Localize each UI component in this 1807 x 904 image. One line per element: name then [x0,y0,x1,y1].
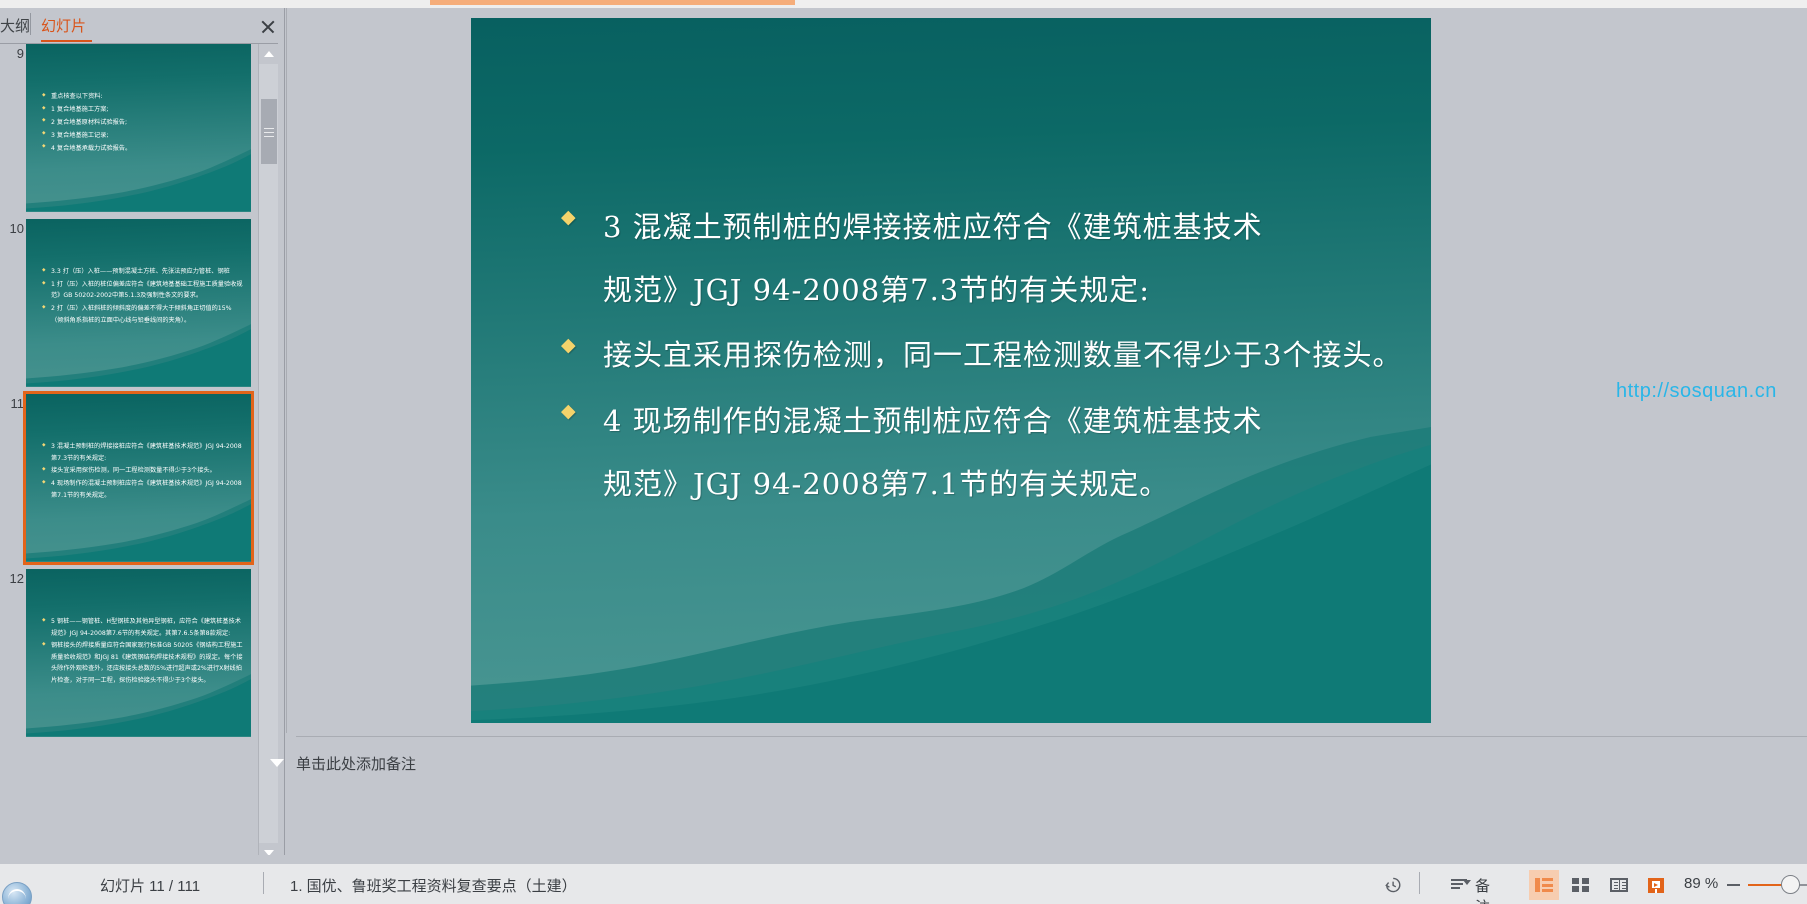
panel-tabbar: 大纲 幻灯片 [0,8,285,44]
notes-placeholder[interactable]: 单击此处添加备注 [296,753,416,774]
top-strip [0,0,1807,8]
thumbnail-scrollbar[interactable] [258,44,278,863]
grip-line [264,132,274,133]
thumbnail-bullet: 2 复合地基原材料试验报告; [42,117,243,128]
thumbnail-number: 12 [4,571,24,586]
thumbnail-list[interactable]: 9 重点核查以下资料:1 复合地基施工方案;2 复合地基原材料试验报告;3 复合… [0,44,258,863]
thumbnail-bullet: 3 混凝土预制桩的焊接接桩应符合《建筑桩基技术规范》JGJ 94-2008第7.… [42,441,243,464]
thumbnail-bullet: 2 打（压）入桩斜桩的倾斜度的偏差不得大于倾斜角正切值的15%（倾斜角系指桩的立… [42,303,243,326]
thumbnail-slide[interactable]: 重点核查以下资料:1 复合地基施工方案;2 复合地基原材料试验报告;3 复合地基… [26,44,251,212]
thumbnail-number: 10 [4,221,24,236]
slide-bullet-2: 接头宜采用探伤检测，同一工程检测数量不得少于3个接头。 [561,324,1403,387]
thumbnail-bullet: 钢桩接头的焊接质量应符合国家现行标准GB 50205《钢结构工程施工质量验收规范… [42,640,243,686]
status-separator-1 [263,872,264,894]
thumbnail-bullet: 接头宜采用探伤检测，同一工程检测数量不得少于3个接头。 [42,465,243,476]
top-strip-right [795,0,1807,8]
tab-active-underline [41,40,92,42]
zoom-slider-knob[interactable] [1781,875,1800,894]
watermark-url: http://sosquan.cn [1616,380,1777,403]
thumbnail-panel: 大纲 幻灯片 9 重点核查以下资料:1 复合地基施工方案;2 复合地基原材料试验… [0,8,285,863]
bullet-line-2: 规范》JGJ 94-2008第7.1节的有关规定。 [603,453,1403,516]
normal-view-icon [1535,878,1553,892]
thumbnail-slide[interactable]: 3.3 打（压）入桩——预制混凝土方桩、先张法预应力管桩、钢桩1 打（压）入桩的… [26,219,251,387]
splitter-line [296,736,1807,737]
scrollbar-thumb[interactable] [261,99,277,164]
scroll-up-button[interactable] [259,44,279,64]
thumbnail-bullet: 5 钢桩——钢管桩、H型钢桩及其他异型钢桩，应符合《建筑桩基技术规范》JGJ 9… [42,616,243,639]
close-icon[interactable] [259,18,277,36]
ribbon-accent-bar [430,0,795,5]
tab-outline[interactable]: 大纲 [0,15,30,36]
app-logo-icon [2,882,32,904]
notes-splitter[interactable] [286,733,1807,741]
zoom-out-button[interactable] [1727,884,1740,886]
thumbnail-text: 重点核查以下资料:1 复合地基施工方案;2 复合地基原材料试验报告;3 复合地基… [42,91,243,156]
slide-editing-area: 3 混凝土预制桩的焊接接桩应符合《建筑桩基技术规范》JGJ 94-2008第7.… [286,8,1807,828]
slide-canvas[interactable]: 3 混凝土预制桩的焊接接桩应符合《建筑桩基技术规范》JGJ 94-2008第7.… [471,18,1431,723]
collapse-arrow-icon[interactable] [270,759,284,767]
thumbnail-bullet: 4 复合地基承载力试验报告。 [42,143,243,154]
normal-view-button[interactable] [1529,870,1559,900]
thumbnail-bullet: 1 打（压）入桩的桩位偏差应符合《建筑地基基础工程施工质量验收规范》GB 502… [42,279,243,302]
thumbnail-text: 3.3 打（压）入桩——预制混凝土方桩、先张法预应力管桩、钢桩1 打（压）入桩的… [42,266,243,328]
slideshow-button[interactable] [1641,870,1671,900]
thumbnail-number: 11 [4,396,24,411]
reading-view-button[interactable] [1604,870,1634,900]
thumbnail-text: 3 混凝土预制桩的焊接接桩应符合《建筑桩基技术规范》JGJ 94-2008第7.… [42,441,243,503]
thumbnail-slide[interactable]: 5 钢桩——钢管桩、H型钢桩及其他异型钢桩，应符合《建筑桩基技术规范》JGJ 9… [26,569,251,737]
status-bar-top-gap [0,855,1807,864]
slide-counter: 幻灯片 11 / 111 [100,875,200,896]
thumbnail-bullet: 3.3 打（压）入桩——预制混凝土方桩、先张法预应力管桩、钢桩 [42,266,243,277]
zoom-level-label: 89 % [1684,875,1718,892]
thumbnail-bullet: 4 现场制作的混凝土预制桩应符合《建筑桩基技术规范》JGJ 94-2008第7.… [42,478,243,501]
slide-text-body[interactable]: 3 混凝土预制桩的焊接接桩应符合《建筑桩基技术规范》JGJ 94-2008第7.… [561,196,1403,518]
slideshow-icon [1648,878,1664,893]
thumbnail-bullet: 1 复合地基施工方案; [42,104,243,115]
slide-sorter-icon [1572,878,1589,892]
document-title: 1. 国优、鲁班奖工程资料复查要点（土建） [290,875,577,896]
thumbnail-slide[interactable]: 3 混凝土预制桩的焊接接桩应符合《建筑桩基技术规范》JGJ 94-2008第7.… [26,394,251,562]
powerpoint-window: 大纲 幻灯片 9 重点核查以下资料:1 复合地基施工方案;2 复合地基原材料试验… [0,0,1807,904]
reading-view-icon [1610,878,1628,892]
chevron-down-icon [1463,880,1471,885]
bullet-line-1: 3 混凝土预制桩的焊接接桩应符合《建筑桩基技术 [603,210,1263,244]
slide-sorter-view-button[interactable] [1566,870,1596,900]
notes-toggle-label: 备注 [1475,875,1490,904]
grip-line [264,136,274,137]
thumbnail-text: 5 钢桩——钢管桩、H型钢桩及其他异型钢桩，应符合《建筑桩基技术规范》JGJ 9… [42,616,243,688]
chevron-up-icon [264,51,274,57]
thumbnail-bullet: 3 复合地基施工记录; [42,130,243,141]
notes-pane[interactable]: 单击此处添加备注 [286,741,1807,828]
tab-separator [30,13,31,35]
status-separator-2 [1419,872,1420,894]
history-icon[interactable] [1383,875,1403,895]
thumbnail-bullet: 重点核查以下资料: [42,91,243,102]
bullet-line-1: 接头宜采用探伤检测，同一工程检测数量不得少于3个接头。 [603,338,1402,372]
slide-bullet-1: 3 混凝土预制桩的焊接接桩应符合《建筑桩基技术规范》JGJ 94-2008第7.… [561,196,1403,322]
grip-line [264,128,274,129]
logo-arc [8,889,26,899]
main-area-left-border [286,8,287,828]
tab-slides[interactable]: 幻灯片 [41,15,86,36]
bullet-line-1: 4 现场制作的混凝土预制桩应符合《建筑桩基技术 [603,404,1263,438]
slide-bullet-3: 4 现场制作的混凝土预制桩应符合《建筑桩基技术规范》JGJ 94-2008第7.… [561,390,1403,516]
thumbnail-number: 9 [4,46,24,61]
panel-divider[interactable] [278,8,285,863]
bullet-line-2: 规范》JGJ 94-2008第7.3节的有关规定: [603,259,1403,322]
status-bar: 幻灯片 11 / 111 1. 国优、鲁班奖工程资料复查要点（土建） 备注 [0,863,1807,904]
